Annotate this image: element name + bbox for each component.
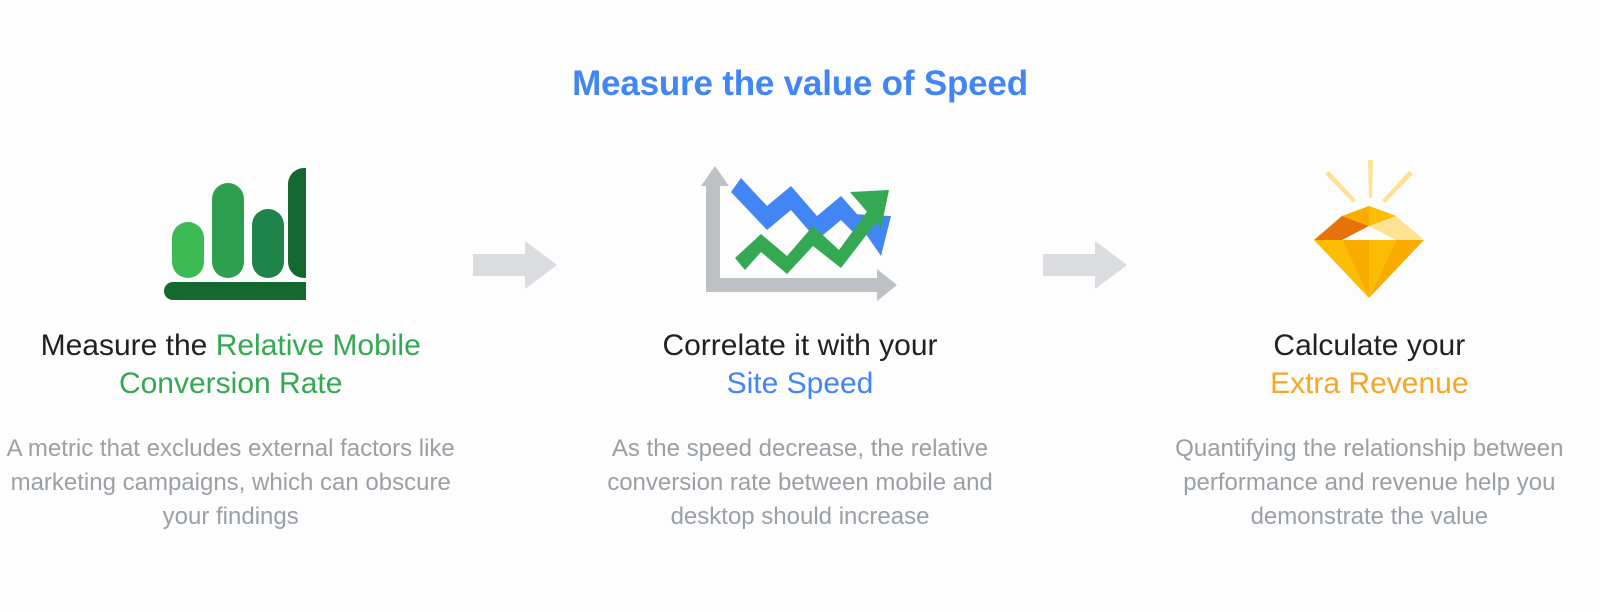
step-2-icon-wrap — [695, 155, 905, 305]
connector-2 — [1031, 155, 1139, 289]
right-arrow-icon — [473, 241, 557, 289]
step-3-heading-plain: Calculate your — [1273, 329, 1465, 362]
step-1-heading: Measure the Relative Mobile Conversion R… — [11, 327, 451, 404]
connector-1 — [461, 155, 569, 289]
step-3-icon-wrap — [1294, 155, 1444, 305]
step-column-1: Measure the Relative Mobile Conversion R… — [0, 155, 461, 534]
step-2-heading-plain: Correlate it with your — [662, 329, 937, 362]
step-column-2: Correlate it with your Site Speed As the… — [569, 155, 1030, 534]
trend-arrows-chart-icon — [695, 158, 905, 303]
step-3-body: Quantifying the relationship between per… — [1144, 432, 1594, 534]
page-title: Measure the value of Speed — [0, 63, 1600, 105]
step-1-heading-plain: Measure the — [41, 329, 216, 362]
bar-chart-icon — [156, 160, 306, 300]
step-1-icon-wrap — [156, 155, 306, 305]
step-2-body: As the speed decrease, the relative conv… — [575, 432, 1025, 534]
step-3-heading: Calculate your Extra Revenue — [1270, 327, 1468, 404]
step-column-3: Calculate your Extra Revenue Quantifying… — [1139, 155, 1600, 534]
diamond-icon — [1294, 158, 1444, 303]
step-2-heading-accent: Site Speed — [727, 367, 874, 400]
right-arrow-icon — [1043, 241, 1127, 289]
sparkle-rays — [1325, 160, 1413, 203]
step-2-heading: Correlate it with your Site Speed — [662, 327, 937, 404]
infographic-root: Measure the value of Speed Measure the R… — [0, 0, 1600, 612]
steps-row: Measure the Relative Mobile Conversion R… — [0, 155, 1600, 534]
step-3-heading-accent: Extra Revenue — [1270, 367, 1468, 400]
step-1-body: A metric that excludes external factors … — [6, 432, 456, 534]
